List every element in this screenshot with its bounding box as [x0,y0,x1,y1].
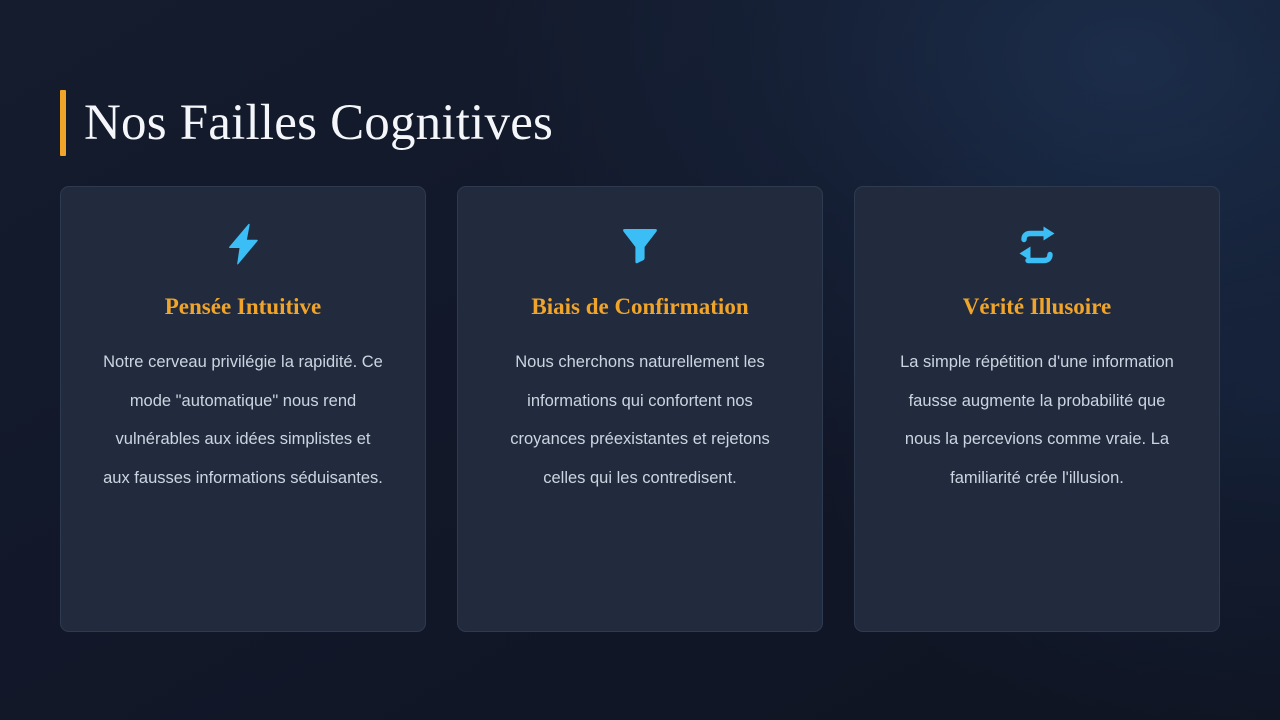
card-pensee-intuitive[interactable]: Pensée Intuitive Notre cerveau privilégi… [60,186,426,632]
card-title: Pensée Intuitive [165,293,322,321]
card-title: Vérité Illusoire [963,293,1111,321]
card-verite-illusoire[interactable]: Vérité Illusoire La simple répétition d'… [854,186,1220,632]
funnel-filter-icon [617,221,663,267]
card-title: Biais de Confirmation [531,293,748,321]
card-body: Notre cerveau privilégie la rapidité. Ce… [101,343,386,497]
slide: Nos Failles Cognitives Pensée Intuitive … [0,0,1280,720]
card-grid: Pensée Intuitive Notre cerveau privilégi… [60,186,1220,632]
lightning-bolt-icon [220,221,266,267]
card-biais-de-confirmation[interactable]: Biais de Confirmation Nous cherchons nat… [457,186,823,632]
title-accent-bar [60,90,66,156]
page-title: Nos Failles Cognitives [84,90,553,156]
card-body: La simple répétition d'une information f… [895,343,1180,497]
slide-header: Nos Failles Cognitives [60,56,553,190]
card-body: Nous cherchons naturellement les informa… [495,343,785,497]
repeat-loop-icon [1014,221,1060,267]
